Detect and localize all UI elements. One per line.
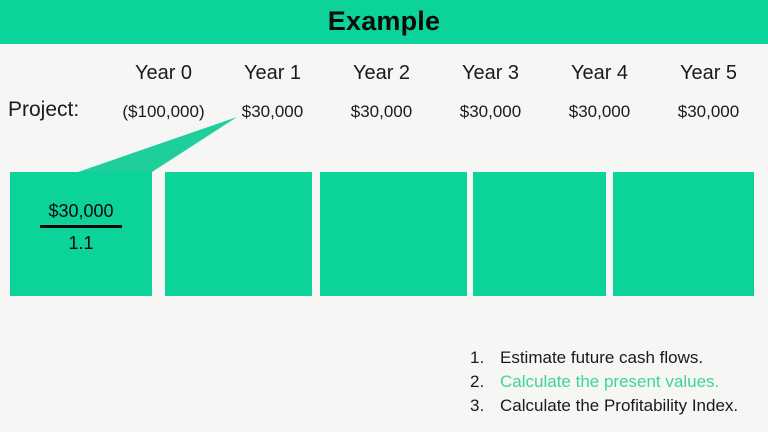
cash-flow-value-1: $30,000 xyxy=(218,102,327,122)
year-header-4: Year 4 xyxy=(545,62,654,85)
step-number-3: 3. xyxy=(470,396,496,416)
pv-fraction-denominator: 1.1 xyxy=(10,232,152,254)
page-title: Example xyxy=(0,0,768,44)
pv-box-4[interactable] xyxy=(473,172,606,296)
year-header-2: Year 2 xyxy=(327,62,436,85)
cash-flow-value-3: $30,000 xyxy=(436,102,545,122)
slide-canvas: Example Project: Year 0 Year 1 Year 2 Ye… xyxy=(0,0,768,432)
cash-flow-table: Project: Year 0 Year 1 Year 2 Year 3 Yea… xyxy=(0,44,768,134)
pv-fraction-bar xyxy=(40,225,122,228)
step-item-1: 1. Estimate future cash flows. xyxy=(470,348,760,372)
pv-box-5[interactable] xyxy=(613,172,754,296)
step-text-1: Estimate future cash flows. xyxy=(500,348,703,368)
year-header-1: Year 1 xyxy=(218,62,327,85)
present-value-boxes: $30,000 1.1 xyxy=(0,172,768,296)
step-text-3: Calculate the Profitability Index. xyxy=(500,396,738,416)
title-bar: Example xyxy=(0,0,768,44)
step-number-1: 1. xyxy=(470,348,496,368)
year-header-0: Year 0 xyxy=(109,62,218,85)
cash-flow-value-4: $30,000 xyxy=(545,102,654,122)
step-item-3: 3. Calculate the Profitability Index. xyxy=(470,396,760,420)
step-item-2: 2. Calculate the present values. xyxy=(470,372,760,396)
step-number-2: 2. xyxy=(470,372,496,392)
pv-fraction-numerator: $30,000 xyxy=(10,200,152,222)
cash-flow-value-5: $30,000 xyxy=(654,102,763,122)
cash-flow-value-2: $30,000 xyxy=(327,102,436,122)
pv-box-1[interactable]: $30,000 1.1 xyxy=(10,172,152,296)
cash-flow-value-0: ($100,000) xyxy=(109,102,218,122)
project-row-label: Project: xyxy=(8,98,79,122)
steps-list: 1. Estimate future cash flows. 2. Calcul… xyxy=(470,348,760,420)
year-header-3: Year 3 xyxy=(436,62,545,85)
step-text-2: Calculate the present values. xyxy=(500,372,719,392)
pv-fraction-1: $30,000 1.1 xyxy=(10,200,152,254)
pv-box-3[interactable] xyxy=(320,172,467,296)
year-header-5: Year 5 xyxy=(654,62,763,85)
pv-box-2[interactable] xyxy=(165,172,312,296)
